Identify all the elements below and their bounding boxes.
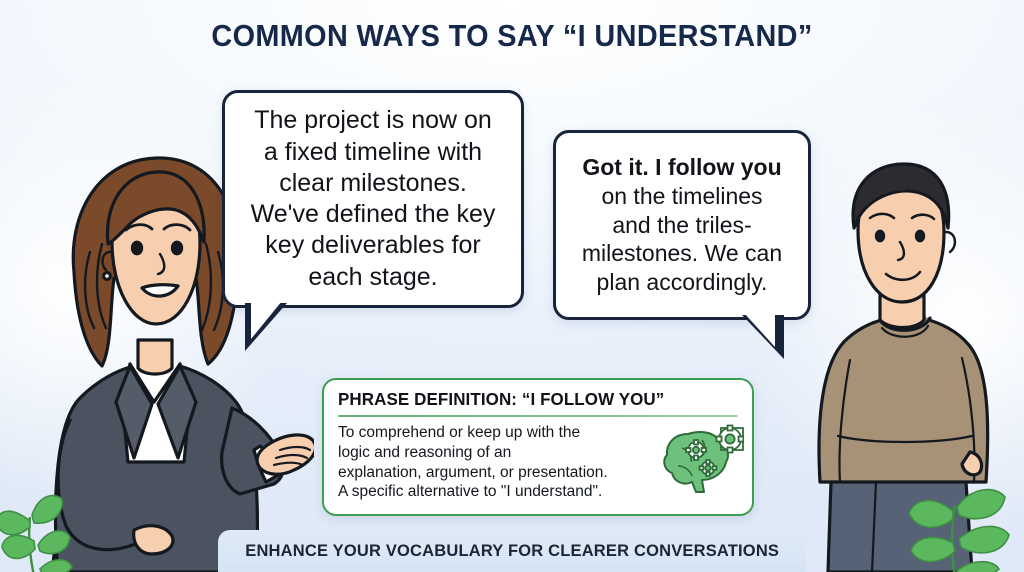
bubble-line: and the triles- — [582, 211, 782, 240]
phrase-definition-divider — [338, 415, 738, 417]
brain-gears-icon — [658, 422, 744, 498]
definition-line: explanation, argument, or presentation. — [338, 463, 668, 483]
bubble-line: Got it. I follow you — [582, 153, 782, 182]
bubble-line: a fixed timeline with — [251, 137, 496, 168]
speech-bubble-man-text: Got it. I follow you on the timelines an… — [570, 147, 794, 303]
plant-left-icon — [0, 471, 124, 572]
speech-bubble-man-tail-fill — [744, 313, 775, 347]
bubble-line: We've defined the key — [251, 199, 496, 230]
poster-canvas: COMMON WAYS TO SAY “I UNDERSTAND” — [0, 0, 1024, 572]
bubble-line: on the timelines — [582, 182, 782, 211]
speech-bubble-woman-tail-fill — [251, 301, 282, 339]
bubble-line: each stage. — [251, 262, 496, 293]
footer-text: ENHANCE YOUR VOCABULARY FOR CLEARER CONV… — [245, 541, 779, 561]
phrase-definition-title: PHRASE DEFINITION: “I FOLLOW YOU” — [338, 389, 726, 410]
speech-bubble-man: Got it. I follow you on the timelines an… — [553, 130, 811, 320]
phrase-definition-body: To comprehend or keep up with the logic … — [338, 423, 668, 502]
bubble-line: milestones. We can — [582, 239, 782, 268]
footer-banner: ENHANCE YOUR VOCABULARY FOR CLEARER CONV… — [218, 530, 806, 572]
page-title: COMMON WAYS TO SAY “I UNDERSTAND” — [36, 18, 988, 54]
definition-line: logic and reasoning of an — [338, 443, 668, 463]
definition-line: To comprehend or keep up with the — [338, 423, 668, 443]
bubble-line: plan accordingly. — [582, 268, 782, 297]
speech-bubble-woman-text: The project is now on a fixed timeline w… — [239, 99, 508, 299]
bubble-line: The project is now on — [251, 105, 496, 136]
plant-right-icon — [893, 461, 1024, 572]
bubble-line: key deliverables for — [251, 230, 496, 261]
phrase-definition-card: PHRASE DEFINITION: “I FOLLOW YOU” To com… — [322, 378, 754, 516]
definition-line: A specific alternative to "I understand"… — [338, 482, 668, 502]
bubble-line: clear milestones. — [251, 168, 496, 199]
speech-bubble-woman: The project is now on a fixed timeline w… — [222, 90, 524, 308]
